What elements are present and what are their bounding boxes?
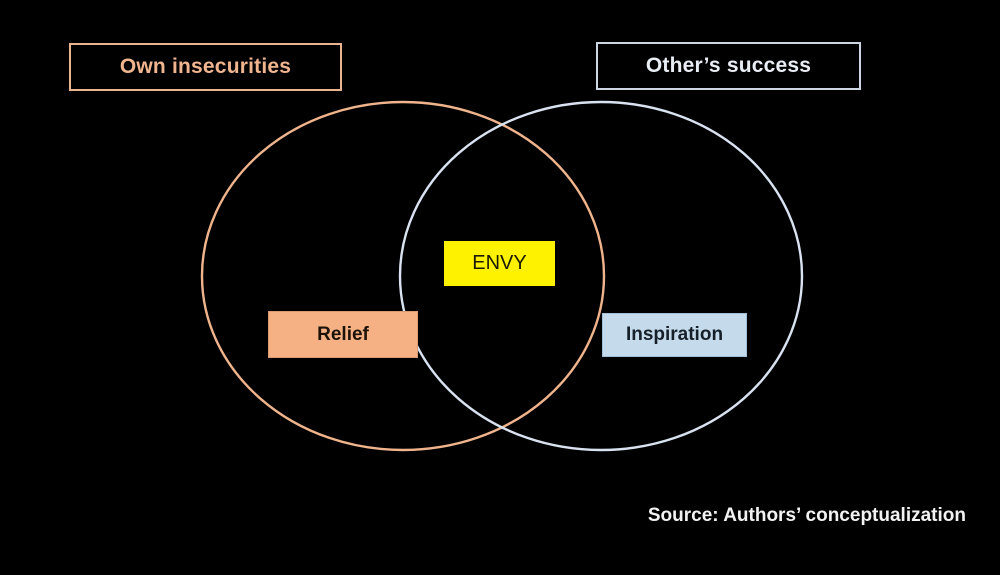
category-label-own-insecurities-text: Own insecurities — [120, 55, 291, 79]
source-attribution: Source: Authors’ conceptualization — [648, 505, 966, 527]
region-label-relief-text: Relief — [317, 324, 369, 346]
region-label-envy-text: ENVY — [472, 252, 526, 275]
category-label-others-success-text: Other’s success — [646, 54, 811, 78]
diagram-canvas: Own insecurities Other’s success Relief … — [0, 0, 1000, 575]
region-label-envy: ENVY — [444, 241, 555, 286]
region-label-inspiration: Inspiration — [602, 313, 747, 357]
category-label-own-insecurities: Own insecurities — [69, 43, 342, 91]
region-label-relief: Relief — [268, 311, 418, 358]
category-label-others-success: Other’s success — [596, 42, 861, 90]
region-label-inspiration-text: Inspiration — [626, 324, 723, 346]
